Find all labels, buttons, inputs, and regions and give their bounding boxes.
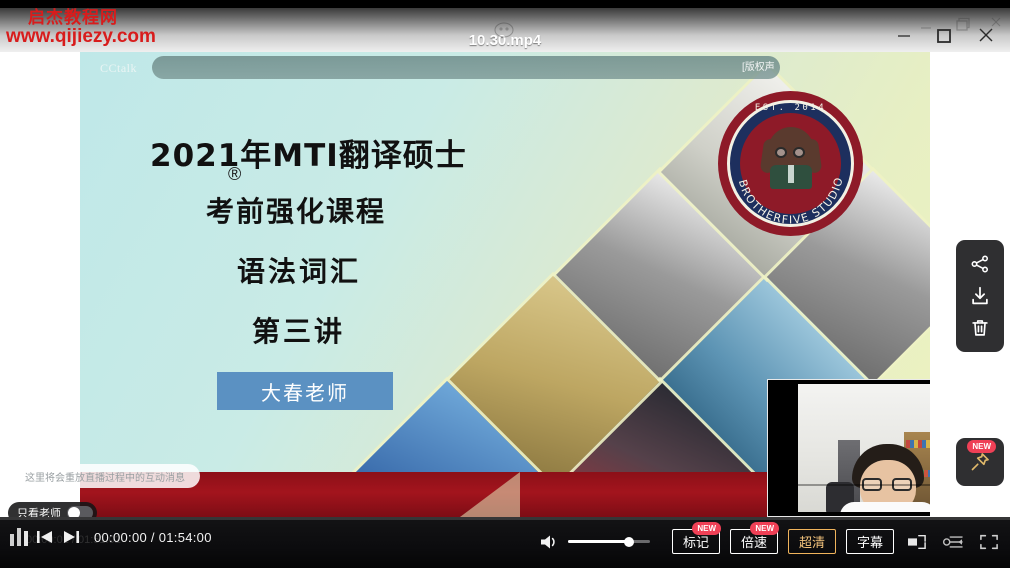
next-button[interactable] — [62, 529, 80, 545]
only-teacher-label: 只看老师 — [17, 505, 61, 517]
webcam-video — [798, 384, 930, 512]
video-stage[interactable]: 2021年MTI翻译硕士 考前强化课程 语法词汇 第三讲 大春老师 EST. 2… — [0, 52, 1010, 517]
webcam-pip[interactable] — [767, 379, 930, 517]
chat-replay-placeholder: 这里将会重放直播过程中的互动消息 — [10, 464, 200, 488]
video-player-window: 2021年MTI翻译硕士 考前强化课程 语法词汇 第三讲 大春老师 EST. 2… — [0, 0, 1010, 568]
quality-button-label: 超清 — [799, 532, 825, 551]
side-tool-panel[interactable] — [956, 240, 1004, 352]
mark-new-badge: NEW — [692, 522, 721, 535]
ghost-face-icon — [493, 22, 515, 38]
speed-button[interactable]: NEW 倍速 — [730, 529, 778, 554]
only-teacher-switch[interactable] — [67, 506, 93, 517]
copyright-notice: [版权声 — [742, 58, 775, 73]
cctalk-brand-label: CCtalk — [100, 61, 137, 76]
download-icon[interactable] — [966, 282, 994, 310]
close-button-ghost — [982, 10, 1010, 36]
delete-icon[interactable] — [966, 314, 994, 342]
volume-icon[interactable] — [539, 533, 561, 551]
quality-button[interactable]: 超清 — [788, 529, 836, 554]
window-titlebar: 10.30.mp4 — [0, 8, 1010, 52]
cctalk-header-pill — [152, 56, 780, 79]
settings-list-icon[interactable] — [940, 531, 966, 553]
slide-footer-accent — [460, 472, 520, 517]
cctalk-header-strip: CCtalk [版权声 — [80, 52, 930, 88]
restore-button-ghost — [948, 12, 976, 38]
volume-knob[interactable] — [624, 537, 634, 547]
teacher-name-banner: 大春老师 — [217, 372, 393, 410]
volume-control[interactable] — [539, 533, 650, 551]
previous-button[interactable] — [36, 529, 54, 545]
volume-slider[interactable] — [568, 540, 650, 543]
subtitle-button[interactable]: 字幕 — [846, 529, 894, 554]
pin-tool-panel[interactable]: NEW — [956, 438, 1004, 486]
progress-bar[interactable] — [0, 517, 1010, 520]
volume-fill — [568, 540, 630, 543]
slide-title-line-2: 考前强化课程 — [206, 190, 386, 230]
mark-button[interactable]: NEW 标记 — [672, 529, 720, 554]
right-controls: NEW 标记 NEW 倍速 超清 字幕 — [539, 529, 1002, 554]
minimize-button-ghost — [912, 14, 940, 40]
logo-avatar-icon — [760, 125, 822, 191]
fullscreen-icon[interactable] — [976, 531, 1002, 553]
slide-title-line-3: 语法词汇 — [237, 250, 361, 290]
pause-button[interactable] — [10, 528, 28, 546]
only-teacher-toggle[interactable]: 只看老师 — [8, 502, 97, 517]
slide-title-line-1: 2021年MTI翻译硕士 — [150, 130, 467, 175]
speed-new-badge: NEW — [750, 522, 779, 535]
letterbox-left — [0, 52, 80, 517]
subtitle-button-label: 字幕 — [857, 532, 883, 551]
slide-title-line-4: 第三讲 — [252, 310, 345, 350]
transport-controls: 00:00:00 / 01:54:00 — [10, 528, 212, 546]
player-control-bar: 00:00:01 / 01:51:02 00:00:00 / 01:54:00 … — [0, 517, 1010, 568]
share-icon[interactable] — [966, 250, 994, 278]
pin-new-badge: NEW — [967, 440, 996, 453]
picture-in-picture-icon[interactable] — [904, 531, 930, 553]
chat-replay-text: 这里将会重放直播过程中的互动消息 — [25, 469, 185, 484]
studio-logo: EST. 2014 BROTHERFIVE STUDIO — [718, 91, 863, 236]
slide-content: 2021年MTI翻译硕士 考前强化课程 语法词汇 第三讲 大春老师 EST. 2… — [80, 52, 930, 517]
registered-mark: ® — [228, 164, 241, 185]
time-display: 00:00:00 / 01:54:00 — [94, 530, 212, 545]
